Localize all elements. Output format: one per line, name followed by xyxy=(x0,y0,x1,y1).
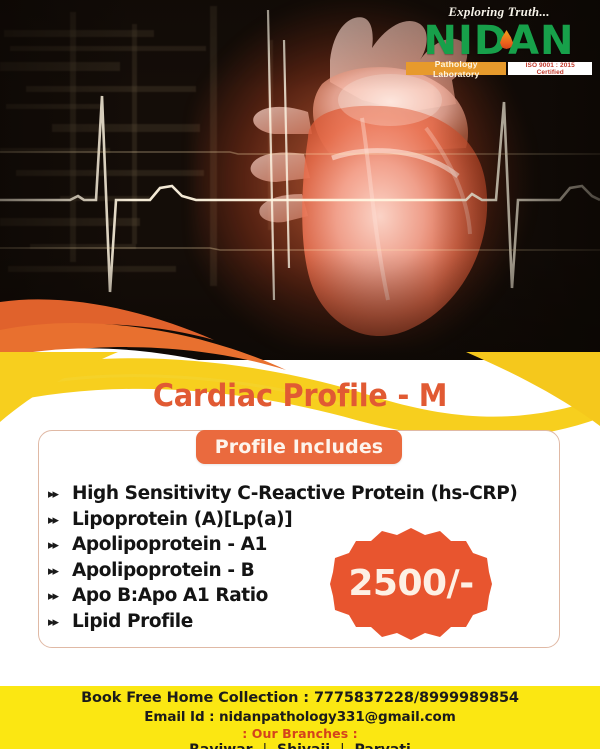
footer-contact-bar: Book Free Home Collection : 7775837228/8… xyxy=(0,686,600,749)
branch-name: Shivaji xyxy=(277,742,330,749)
double-chevron-right-icon: ▸▸ xyxy=(46,609,72,634)
email-line: Email Id : nidanpathology331@gmail.com xyxy=(0,708,600,726)
test-name: Apolipoprotein - B xyxy=(72,558,254,583)
test-name: Lipid Profile xyxy=(72,609,193,634)
branch-separator: | xyxy=(257,742,272,749)
test-name: Apo B:Apo A1 Ratio xyxy=(72,583,268,608)
page-title: Cardiac Profile - M xyxy=(21,379,579,413)
price-badge: 2500/- xyxy=(330,528,492,640)
brand-name: NIDAN xyxy=(406,21,592,61)
home-collection-line: Book Free Home Collection : 7775837228/8… xyxy=(0,686,600,708)
test-name: High Sensitivity C-Reactive Protein (hs-… xyxy=(72,481,517,506)
test-name: Apolipoprotein - A1 xyxy=(72,532,267,557)
double-chevron-right-icon: ▸▸ xyxy=(46,583,72,608)
double-chevron-right-icon: ▸▸ xyxy=(46,481,72,506)
branches-heading: : Our Branches : xyxy=(0,726,600,742)
brand-logo: Exploring Truth... NIDAN Pathology Labor… xyxy=(406,4,592,82)
double-chevron-right-icon: ▸▸ xyxy=(46,558,72,583)
brand-name-text: NIDAN xyxy=(424,18,575,64)
branches-list: Raviwar | Shivaji | Parvati xyxy=(0,742,600,749)
email-address[interactable]: nidanpathology331@gmail.com xyxy=(219,709,456,725)
email-label: Email Id : xyxy=(144,709,214,725)
branch-name: Parvati xyxy=(355,742,411,749)
home-collection-phone[interactable]: 7775837228/8999989854 xyxy=(314,690,519,706)
branch-separator: | xyxy=(335,742,350,749)
double-chevron-right-icon: ▸▸ xyxy=(46,507,72,532)
list-item: ▸▸ High Sensitivity C-Reactive Protein (… xyxy=(46,481,466,507)
profile-includes-label: Profile Includes xyxy=(215,436,383,458)
advertisement-poster: Exploring Truth... NIDAN Pathology Labor… xyxy=(0,0,600,749)
double-chevron-right-icon: ▸▸ xyxy=(46,532,72,557)
test-name: Lipoprotein (A)[Lp(a)] xyxy=(72,507,292,532)
profile-includes-badge: Profile Includes xyxy=(196,430,402,464)
home-collection-label: Book Free Home Collection : xyxy=(81,690,309,706)
branch-name: Raviwar xyxy=(189,742,252,749)
price-value: 2500/- xyxy=(330,528,492,640)
